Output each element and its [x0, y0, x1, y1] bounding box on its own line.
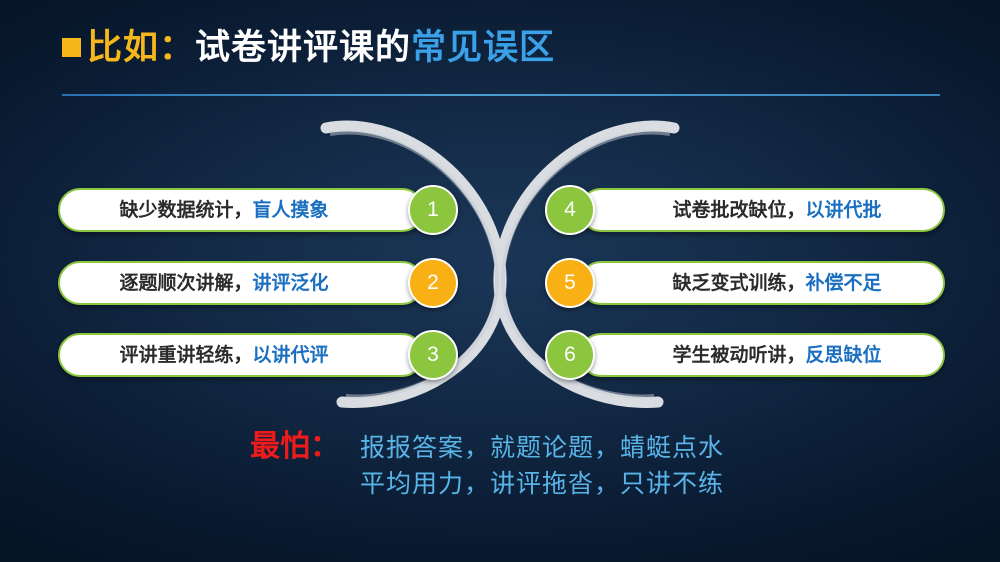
- item-text-highlight-2: 讲评泛化: [253, 273, 329, 294]
- item-text-2: 逐题顺次讲解，讲评泛化: [60, 274, 422, 293]
- item-pill-4[interactable]: 试卷批改缺位，以讲代批: [579, 188, 945, 232]
- item-number-4: 4: [545, 185, 595, 235]
- slide-title: 比如：试卷讲评课的常见误区: [62, 30, 555, 65]
- item-text-highlight-3: 以讲代评: [253, 345, 329, 366]
- item-text-5: 缺乏变式训练，补偿不足: [581, 274, 943, 293]
- item-text-normal-5: 缺乏变式训练，: [672, 273, 805, 294]
- item-text-highlight-6: 反思缺位: [806, 345, 882, 366]
- item-number-1: 1: [408, 185, 458, 235]
- conclusion-block: 最怕： 报报答案，就题论题，蜻蜓点水 平均用力，讲评拖沓，只讲不练: [250, 428, 724, 502]
- item-text-4: 试卷批改缺位，以讲代批: [581, 201, 943, 220]
- list-item[interactable]: 缺少数据统计，盲人摸象 1: [58, 185, 458, 235]
- item-text-normal-6: 学生被动听讲，: [672, 345, 805, 366]
- item-text-normal-2: 逐题顺次讲解，: [119, 273, 252, 294]
- item-text-normal-3: 评讲重讲轻练，: [119, 345, 252, 366]
- item-text-6: 学生被动听讲，反思缺位: [581, 346, 943, 365]
- item-text-highlight-5: 补偿不足: [806, 273, 882, 294]
- item-number-3: 3: [408, 330, 458, 380]
- slide-canvas: 比如：试卷讲评课的常见误区 缺少数据统计，盲人摸象 1 逐题顺次: [0, 0, 1000, 562]
- item-number-6: 6: [545, 330, 595, 380]
- item-pill-3[interactable]: 评讲重讲轻练，以讲代评: [58, 333, 424, 377]
- conclusion-line-2: 平均用力，讲评拖沓，只讲不练: [360, 466, 724, 502]
- item-text-normal-4: 试卷批改缺位，: [672, 200, 805, 221]
- title-divider: [62, 94, 940, 96]
- item-pill-1[interactable]: 缺少数据统计，盲人摸象: [58, 188, 424, 232]
- conclusion-line-1: 报报答案，就题论题，蜻蜓点水: [360, 430, 724, 466]
- conclusion-lines: 报报答案，就题论题，蜻蜓点水 平均用力，讲评拖沓，只讲不练: [360, 428, 724, 502]
- square-bullet-icon: [62, 38, 81, 57]
- item-pill-6[interactable]: 学生被动听讲，反思缺位: [579, 333, 945, 377]
- list-item[interactable]: 缺乏变式训练，补偿不足 5: [545, 258, 945, 308]
- conclusion-label: 最怕：: [250, 428, 340, 466]
- title-highlight: 常见误区: [411, 28, 555, 67]
- list-item[interactable]: 评讲重讲轻练，以讲代评 3: [58, 330, 458, 380]
- title-prefix: 比如：: [87, 28, 195, 67]
- item-text-highlight-4: 以讲代批: [806, 200, 882, 221]
- item-text-highlight-1: 盲人摸象: [253, 200, 329, 221]
- item-text-3: 评讲重讲轻练，以讲代评: [60, 346, 422, 365]
- item-pill-2[interactable]: 逐题顺次讲解，讲评泛化: [58, 261, 424, 305]
- item-text-normal-1: 缺少数据统计，: [119, 200, 252, 221]
- title-middle: 试卷讲评课的: [195, 28, 411, 67]
- item-number-5: 5: [545, 258, 595, 308]
- list-item[interactable]: 逐题顺次讲解，讲评泛化 2: [58, 258, 458, 308]
- item-pill-5[interactable]: 缺乏变式训练，补偿不足: [579, 261, 945, 305]
- item-text-1: 缺少数据统计，盲人摸象: [60, 201, 422, 220]
- list-item[interactable]: 试卷批改缺位，以讲代批 4: [545, 185, 945, 235]
- item-number-2: 2: [408, 258, 458, 308]
- list-item[interactable]: 学生被动听讲，反思缺位 6: [545, 330, 945, 380]
